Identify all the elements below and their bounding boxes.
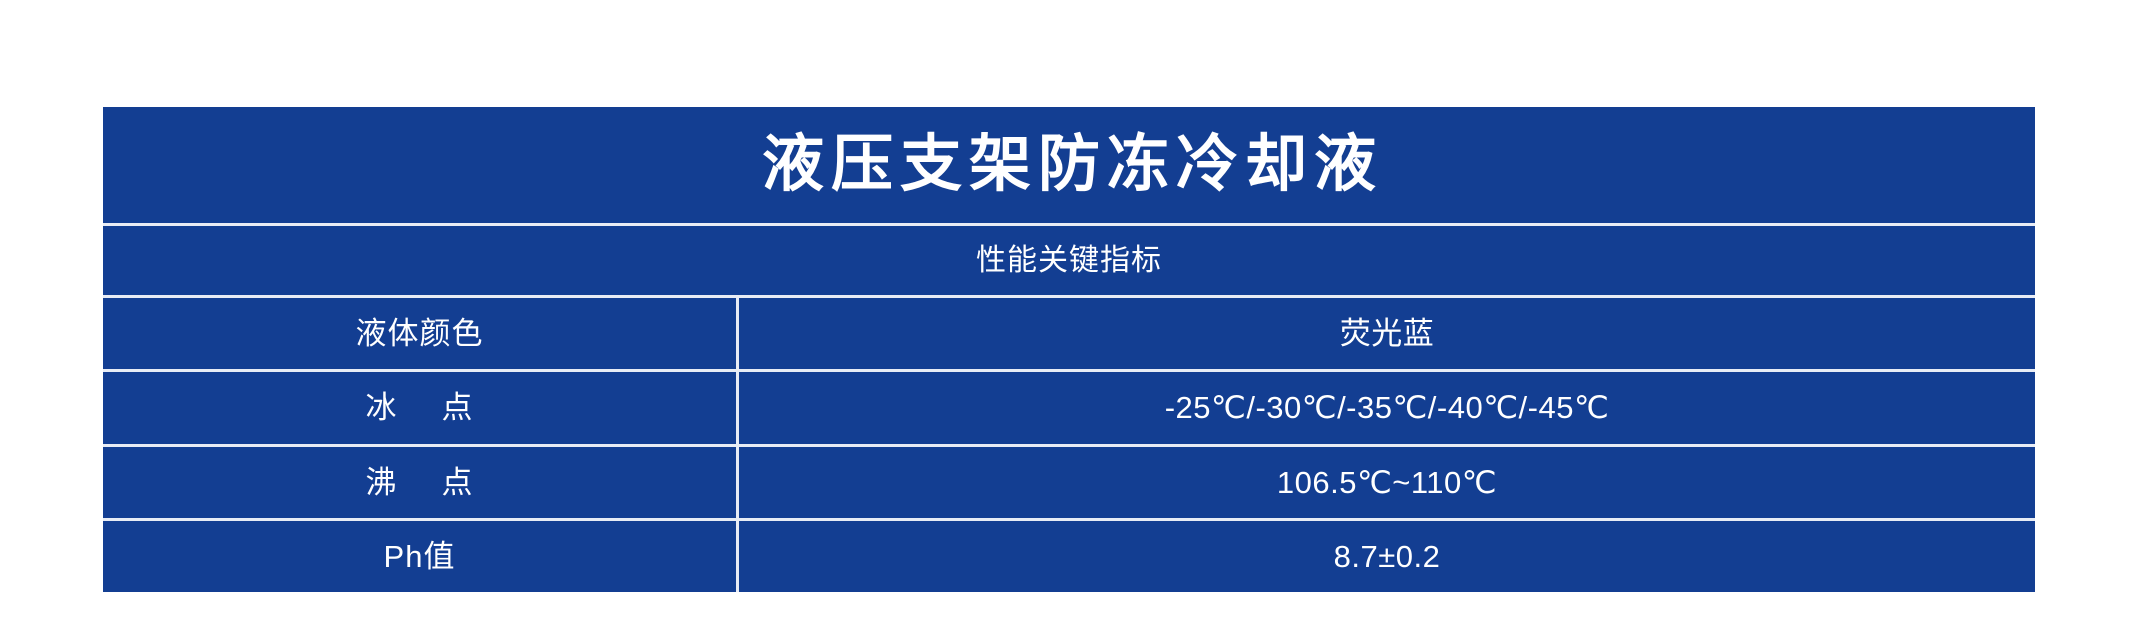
page-root: 液压支架防冻冷却液 性能关键指标 液体颜色 荧光蓝 冰 点 -25℃/-30℃/…: [0, 0, 2138, 617]
spec-value-boiling-point: 106.5℃~110℃: [739, 447, 2035, 518]
spec-label-liquid-color: 液体颜色: [103, 298, 739, 369]
card-subtitle-row: 性能关键指标: [103, 226, 2035, 298]
specification-table: 液体颜色 荧光蓝 冰 点 -25℃/-30℃/-35℃/-40℃/-45℃ 沸 …: [103, 298, 2035, 592]
spec-value-ph-value: 8.7±0.2: [739, 521, 2035, 592]
product-title: 液压支架防冻冷却液: [755, 134, 1383, 196]
table-row: 沸 点 106.5℃~110℃: [103, 447, 2035, 521]
spec-label-freezing-point: 冰 点: [103, 372, 739, 443]
table-row: 液体颜色 荧光蓝: [103, 298, 2035, 372]
spec-label-text: Ph值: [384, 541, 456, 572]
spec-label-text-suffix: 点: [442, 392, 474, 423]
spec-label-text-suffix: 点: [442, 467, 474, 498]
spec-label-ph-value: Ph值: [103, 521, 739, 592]
card-title-row: 液压支架防冻冷却液: [103, 107, 2035, 226]
section-subtitle: 性能关键指标: [976, 246, 1162, 276]
table-row: Ph值 8.7±0.2: [103, 521, 2035, 592]
spec-label-text: 沸: [366, 467, 398, 498]
spec-label-boiling-point: 沸 点: [103, 447, 739, 518]
spec-value-liquid-color: 荧光蓝: [739, 298, 2035, 369]
spec-label-text: 液体颜色: [356, 318, 484, 349]
table-row: 冰 点 -25℃/-30℃/-35℃/-40℃/-45℃: [103, 372, 2035, 446]
specification-card: 液压支架防冻冷却液 性能关键指标 液体颜色 荧光蓝 冰 点 -25℃/-30℃/…: [103, 107, 2035, 592]
spec-value-freezing-point: -25℃/-30℃/-35℃/-40℃/-45℃: [739, 372, 2035, 443]
spec-label-text: 冰: [366, 392, 398, 423]
